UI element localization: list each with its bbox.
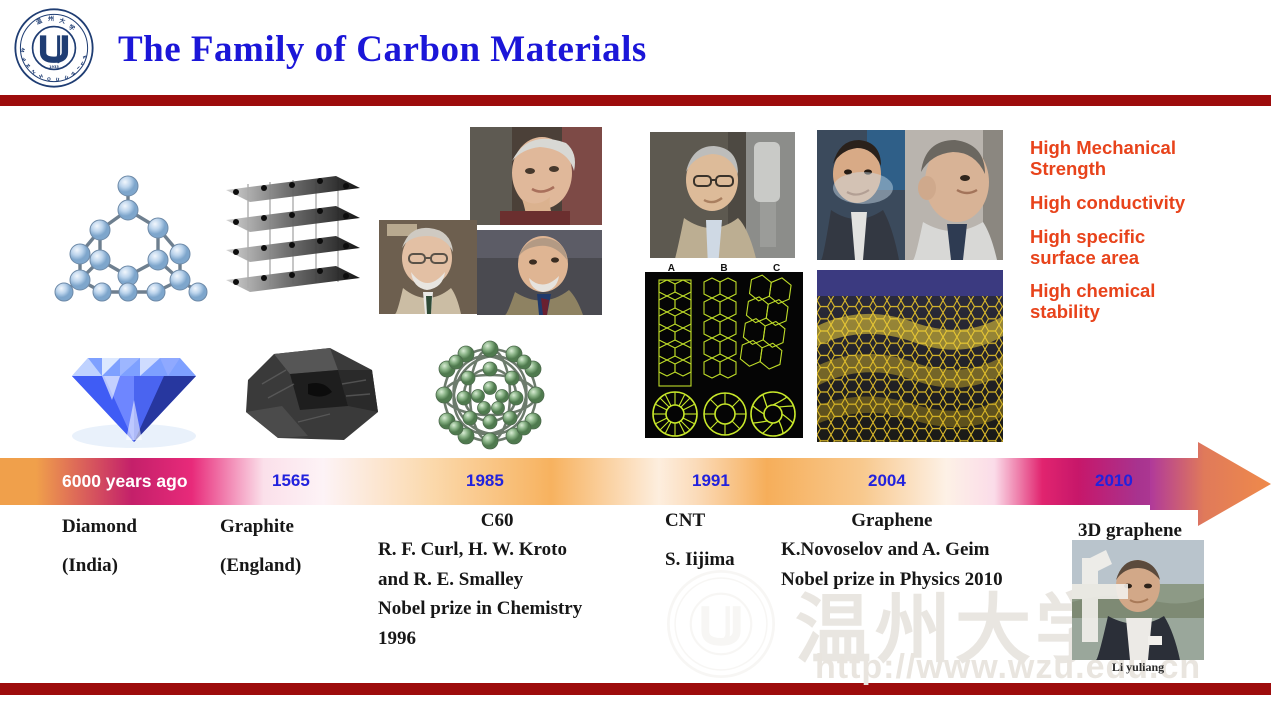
- timeline: 6000 years ago 1565 1985 1991 2004 2010: [0, 458, 1271, 512]
- caption-diamond: Diamond (India): [62, 512, 137, 581]
- diamond-gem-photo: [58, 340, 210, 450]
- portrait-smalley: [477, 230, 602, 315]
- timeline-label-3: 1991: [692, 471, 730, 491]
- caption-graphene-line1: K.Novoselov and A. Geim: [781, 535, 1003, 564]
- footer-rule: [0, 683, 1271, 695]
- diamond-lattice-figure: [40, 168, 225, 313]
- caption-graphite: Graphite (England): [220, 512, 301, 581]
- caption-graphite-name: Graphite: [220, 516, 294, 537]
- svg-text:1933: 1933: [49, 65, 59, 69]
- caption-diamond-origin: (India): [62, 551, 137, 580]
- graphene-sheet-figure: [817, 270, 1003, 442]
- property-chemical-stability: High chemical stability: [1030, 281, 1210, 323]
- property-conductivity: High conductivity: [1030, 193, 1210, 214]
- caption-graphene: Graphene K.Novoselov and A. Geim Nobel p…: [781, 506, 1003, 594]
- c60-buckyball-figure: [400, 336, 580, 454]
- caption-graphene-name: Graphene: [781, 506, 1003, 535]
- page-title: The Family of Carbon Materials: [118, 28, 647, 71]
- portrait-curl: [379, 220, 477, 314]
- portrait-iijima: [650, 132, 795, 267]
- caption-c60-name: C60: [378, 506, 582, 535]
- graphite-layers-figure: [218, 168, 368, 303]
- caption-c60-line3: Nobel prize in Chemistry: [378, 594, 582, 623]
- portrait-kroto: [470, 127, 602, 225]
- caption-c60-line1: R. F. Curl, H. W. Kroto: [378, 535, 582, 564]
- slide-root: 温州大学 http://www.wzu.edu.cn 温 州 大 学 1933 …: [0, 0, 1271, 702]
- graphite-rock-photo: [238, 340, 386, 445]
- portrait-novoselov: [817, 130, 905, 260]
- svg-text:州: 州: [47, 15, 54, 22]
- timeline-label-5: 2010: [1095, 471, 1133, 491]
- university-logo-icon: 温 州 大 学 1933 W E N Z H O U U N I V E: [12, 6, 96, 90]
- timeline-label-2: 1985: [466, 471, 504, 491]
- caption-diamond-name: Diamond: [62, 516, 137, 537]
- caption-cnt: CNT S. Iijima: [665, 506, 735, 575]
- property-surface-area: High specific surface area: [1030, 227, 1210, 269]
- timeline-label-1: 1565: [272, 471, 310, 491]
- properties-list: High Mechanical Strength High conductivi…: [1030, 138, 1210, 336]
- caption-graphene-line2: Nobel prize in Physics 2010: [781, 565, 1003, 594]
- header-rule: [0, 95, 1271, 106]
- watermark-seal-icon: [665, 568, 777, 680]
- caption-graphite-origin: (England): [220, 551, 301, 580]
- caption-cnt-person: S. Iijima: [665, 545, 735, 574]
- carbon-nanotube-figure: [645, 272, 803, 438]
- timeline-arrowhead-icon: [1150, 442, 1271, 526]
- caption-c60: C60 R. F. Curl, H. W. Kroto and R. E. Sm…: [378, 506, 582, 653]
- portrait-li-caption: Li yuliang: [1072, 660, 1204, 675]
- caption-c60-line4: 1996: [378, 624, 582, 653]
- timeline-label-0: 6000 years ago: [62, 471, 188, 492]
- caption-c60-line2: and R. E. Smalley: [378, 565, 582, 594]
- caption-cnt-name: CNT: [665, 510, 705, 531]
- slide-header: 温 州 大 学 1933 W E N Z H O U U N I V E The…: [0, 0, 1271, 95]
- portrait-li-yuliang: [1072, 540, 1204, 660]
- portrait-geim: [905, 130, 1003, 260]
- property-mechanical-strength: High Mechanical Strength: [1030, 138, 1210, 180]
- timeline-label-4: 2004: [868, 471, 906, 491]
